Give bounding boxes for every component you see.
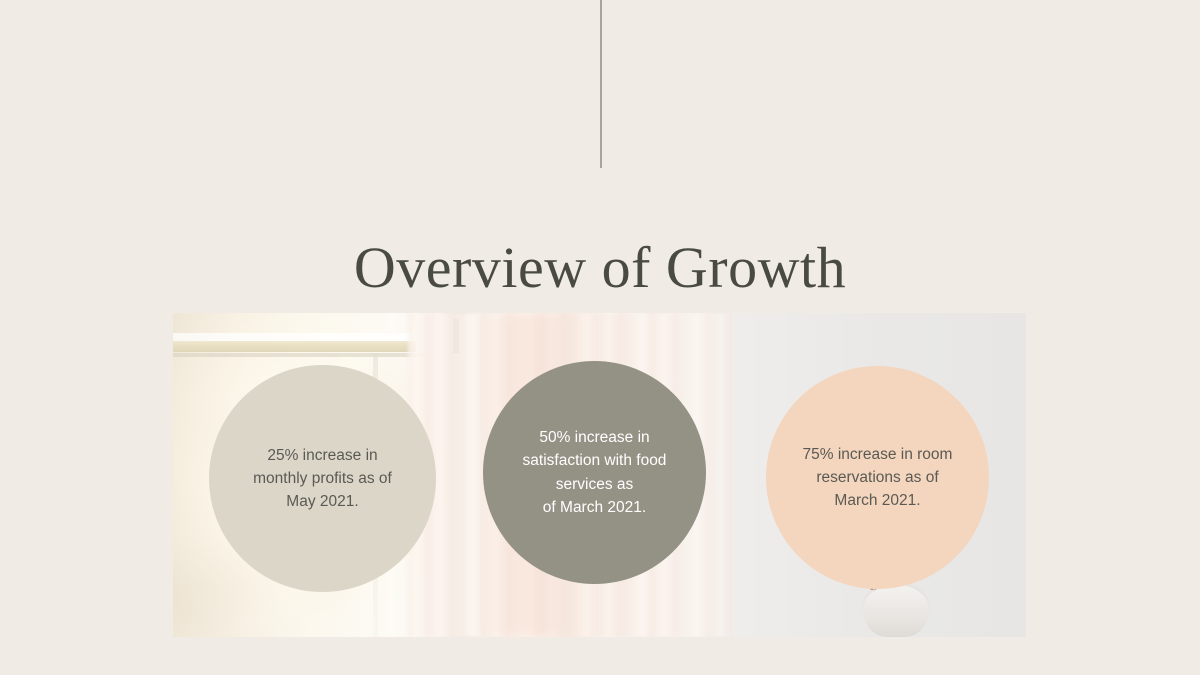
stat-circle-monthly-profits: 25% increase in monthly profits as of Ma…	[209, 365, 436, 592]
vertical-rule-decoration	[600, 0, 602, 168]
stat-text: 50% increase in satisfaction with food s…	[509, 426, 680, 519]
stat-circle-food-satisfaction: 50% increase in satisfaction with food s…	[483, 361, 706, 584]
photo-window-sill-edge	[173, 353, 423, 357]
stat-text: 75% increase in room reservations as of …	[792, 443, 963, 513]
photo-vase	[863, 585, 929, 637]
page-title: Overview of Growth	[0, 236, 1200, 300]
stat-circle-room-reservations: 75% increase in room reservations as of …	[766, 366, 989, 589]
photo-window-sill	[173, 341, 416, 352]
stat-text: 25% increase in monthly profits as of Ma…	[235, 444, 410, 514]
slide-canvas: Overview of Growth 25% increase in	[0, 0, 1200, 675]
